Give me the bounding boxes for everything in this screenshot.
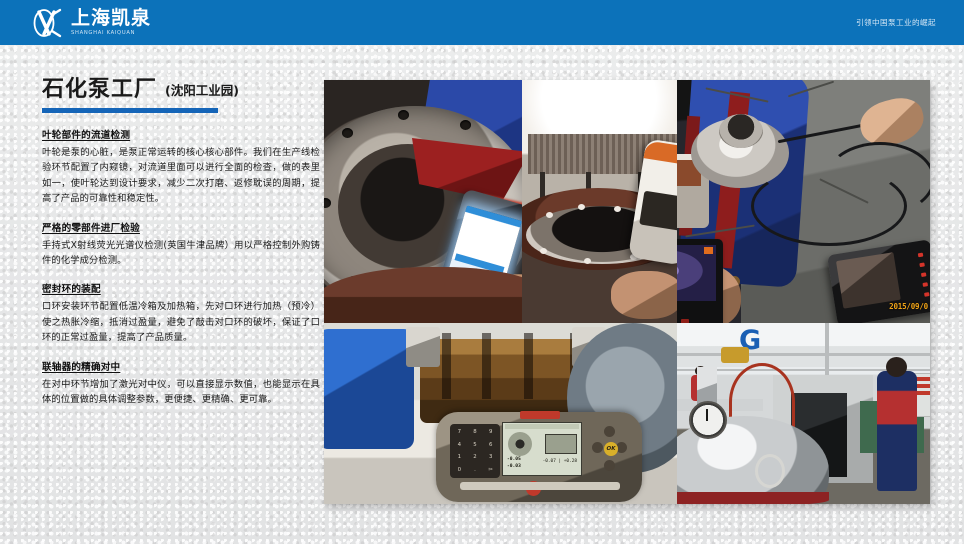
section-seal-ring-assembly: 密封环的装配 口环安装环节配置低温冷箱及加热箱，先对口环进行加热（预冷）使之热胀…	[42, 281, 320, 345]
title-main: 石化泵工厂	[42, 78, 157, 102]
device-lcd-screen: -0.05 -0.03 -0.07 | +0.28	[502, 422, 582, 476]
keypad-key[interactable]: 7	[452, 426, 467, 438]
photo-borescope-monitor: 内窥镜	[677, 80, 930, 323]
device-keypad[interactable]: 7 8 9 4 5 6 1 2 3 0 . ✂	[450, 424, 500, 478]
keypad-key[interactable]: 2	[468, 452, 483, 464]
section-coupling-alignment: 联轴器的精确对中 在对中环节增加了激光对中仪，可以直接显示数值，也能显示在具体的…	[42, 359, 320, 408]
page-header: 上海凯泉 SHANGHAI KAIQUAN 引领中国泵工业的崛起	[0, 0, 964, 45]
logo-text-en: SHANGHAI KAIQUAN	[71, 30, 151, 37]
kaiquan-logo-mark-icon	[30, 6, 64, 40]
keypad-key[interactable]: 3	[483, 452, 498, 464]
keypad-key[interactable]: .	[468, 464, 483, 476]
keypad-key[interactable]: 9	[483, 426, 498, 438]
keypad-key[interactable]: 8	[468, 426, 483, 438]
keypad-key[interactable]: ✂	[483, 464, 498, 476]
logo-text-cn: 上海凯泉	[71, 9, 151, 28]
section-impeller-inspection: 叶轮部件的流道检测 叶轮是泵的心脏，是泵正常运转的核心核心部件。我们在生产线检验…	[42, 127, 320, 207]
slide-canvas: 上海凯泉 SHANGHAI KAIQUAN 引领中国泵工业的崛起 石化泵工厂 (…	[0, 0, 964, 544]
section-body: 叶轮是泵的心脏，是泵正常运转的核心核心部件。我们在生产线检验环节配置了内窥镜，对…	[42, 145, 320, 207]
keypad-key[interactable]: 5	[468, 439, 483, 451]
photo-mosaic: 2015/09/0 内窥镜	[324, 80, 930, 504]
section-body: 口环安装环节配置低温冷箱及加热箱，先对口环进行加热（预冷）使之热胀冷缩，抵消过盈…	[42, 299, 320, 345]
keypad-key[interactable]: 4	[452, 439, 467, 451]
photo-impeller-flange-inspection	[324, 80, 522, 323]
section-body: 手持式X射线荧光光谱仪检测(英国牛津品牌）用以严格控制外购铸件的化学成分检测。	[42, 238, 320, 269]
title-underline-rule	[42, 108, 218, 113]
section-heading: 联轴器的精确对中	[42, 359, 320, 373]
section-heading: 密封环的装配	[42, 281, 320, 295]
lcd-value-pair: -0.07 | +0.28	[543, 459, 577, 464]
photo-workshop-pressure-vessel: G	[677, 323, 930, 504]
photo-casing-xrf-analyser	[522, 80, 677, 323]
section-incoming-parts-inspection: 严格的零部件进厂检验 手持式X射线荧光光谱仪检测(英国牛津品牌）用以严格控制外购…	[42, 220, 320, 269]
photo-laser-shaft-alignment: 7 8 9 4 5 6 1 2 3 0 . ✂ -0.05	[324, 323, 677, 504]
page-title: 石化泵工厂 (沈阳工业园)	[42, 78, 320, 102]
keypad-key[interactable]: 0	[452, 464, 467, 476]
keypad-key[interactable]: 6	[483, 439, 498, 451]
content-column: 石化泵工厂 (沈阳工业园) 叶轮部件的流道检测 叶轮是泵的心脏，是泵正常运转的核…	[42, 78, 320, 420]
device-nav-buttons[interactable]: OK	[592, 424, 630, 474]
laser-alignment-device[interactable]: 7 8 9 4 5 6 1 2 3 0 . ✂ -0.05	[436, 412, 642, 502]
title-subtitle: (沈阳工业园)	[165, 81, 239, 102]
section-body: 在对中环节增加了激光对中仪，可以直接显示数值，也能显示在具体的位置做的具体调整参…	[42, 377, 320, 408]
photo-impeller-borescope: 2015/09/0 内窥镜	[741, 80, 930, 323]
photo-cell-right-top: 2015/09/0 内窥镜	[677, 80, 930, 323]
lcd-value-vertical: -0.05	[507, 457, 521, 462]
ok-button[interactable]: OK	[604, 442, 618, 456]
brand-logo[interactable]: 上海凯泉 SHANGHAI KAIQUAN	[30, 5, 151, 41]
keypad-key[interactable]: 1	[452, 452, 467, 464]
section-heading: 严格的零部件进厂检验	[42, 220, 320, 234]
header-slogan: 引领中国泵工业的崛起	[856, 0, 936, 45]
section-heading: 叶轮部件的流道检测	[42, 127, 320, 141]
lcd-value-horizontal: -0.03	[507, 464, 521, 469]
